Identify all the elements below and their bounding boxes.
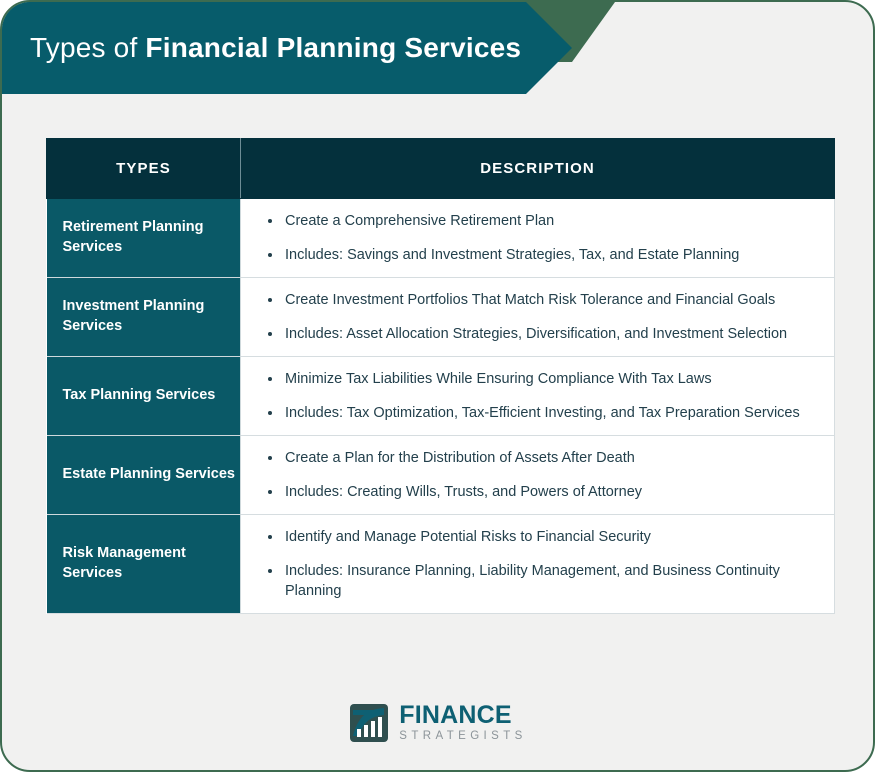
page-title-light: Types of: [30, 32, 145, 63]
list-item: Includes: Creating Wills, Trusts, and Po…: [285, 482, 816, 502]
bar-chart-arc-icon: [348, 702, 390, 744]
table-row: Retirement Planning Services Create a Co…: [47, 199, 835, 278]
bullet-list: Create a Plan for the Distribution of As…: [241, 448, 816, 502]
table-row: Risk Management Services Identify and Ma…: [47, 515, 835, 614]
table-row: Estate Planning Services Create a Plan f…: [47, 436, 835, 515]
list-item: Includes: Asset Allocation Strategies, D…: [285, 324, 816, 344]
infographic-card: Types of Financial Planning Services TYP…: [0, 0, 875, 772]
page-title-bold: Financial Planning Services: [145, 32, 521, 63]
header-banner: Types of Financial Planning Services: [2, 2, 875, 94]
bullet-list: Create a Comprehensive Retirement Plan I…: [241, 211, 816, 265]
list-item: Create a Comprehensive Retirement Plan: [285, 211, 816, 231]
list-item: Identify and Manage Potential Risks to F…: [285, 527, 816, 547]
table-row: Tax Planning Services Minimize Tax Liabi…: [47, 357, 835, 436]
list-item: Minimize Tax Liabilities While Ensuring …: [285, 369, 816, 389]
brand-logo: FINANCE STRATEGISTS: [348, 702, 526, 744]
column-header-types: TYPES: [47, 139, 241, 199]
services-table: TYPES DESCRIPTION Retirement Planning Se…: [46, 138, 835, 614]
bullet-list: Minimize Tax Liabilities While Ensuring …: [241, 369, 816, 423]
description-cell: Create a Plan for the Distribution of As…: [241, 436, 835, 515]
brand-name-secondary: STRATEGISTS: [399, 731, 526, 743]
table-header-row: TYPES DESCRIPTION: [47, 139, 835, 199]
list-item: Create a Plan for the Distribution of As…: [285, 448, 816, 468]
type-label: Estate Planning Services: [47, 436, 241, 515]
footer: FINANCE STRATEGISTS: [2, 702, 873, 744]
bullet-list: Create Investment Portfolios That Match …: [241, 290, 816, 344]
description-cell: Identify and Manage Potential Risks to F…: [241, 515, 835, 614]
page-title: Types of Financial Planning Services: [2, 32, 521, 64]
list-item: Includes: Savings and Investment Strateg…: [285, 245, 816, 265]
list-item: Includes: Insurance Planning, Liability …: [285, 561, 816, 601]
type-label: Retirement Planning Services: [47, 199, 241, 278]
bullet-list: Identify and Manage Potential Risks to F…: [241, 527, 816, 601]
description-cell: Minimize Tax Liabilities While Ensuring …: [241, 357, 835, 436]
type-label: Investment Planning Services: [47, 278, 241, 357]
brand-name-primary: FINANCE: [399, 703, 526, 728]
description-cell: Create Investment Portfolios That Match …: [241, 278, 835, 357]
table-header: TYPES DESCRIPTION: [47, 139, 835, 199]
column-header-description: DESCRIPTION: [241, 139, 835, 199]
table-body: Retirement Planning Services Create a Co…: [47, 199, 835, 614]
description-cell: Create a Comprehensive Retirement Plan I…: [241, 199, 835, 278]
table-row: Investment Planning Services Create Inve…: [47, 278, 835, 357]
list-item: Includes: Tax Optimization, Tax-Efficien…: [285, 403, 816, 423]
type-label: Risk Management Services: [47, 515, 241, 614]
list-item: Create Investment Portfolios That Match …: [285, 290, 816, 310]
banner-teal-shape: Types of Financial Planning Services: [2, 2, 572, 94]
type-label: Tax Planning Services: [47, 357, 241, 436]
brand-text: FINANCE STRATEGISTS: [399, 703, 526, 743]
